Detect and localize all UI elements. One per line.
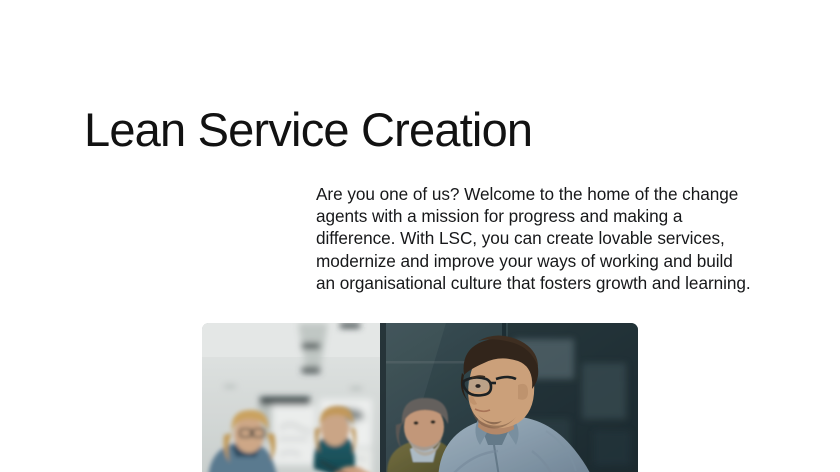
- hero-photo: [202, 323, 638, 472]
- hero-photo-illustration: [202, 323, 638, 472]
- intro-paragraph: Are you one of us? Welcome to the home o…: [316, 183, 754, 294]
- page-title: Lean Service Creation: [84, 102, 532, 158]
- page-root: Lean Service Creation Are you one of us?…: [0, 0, 840, 472]
